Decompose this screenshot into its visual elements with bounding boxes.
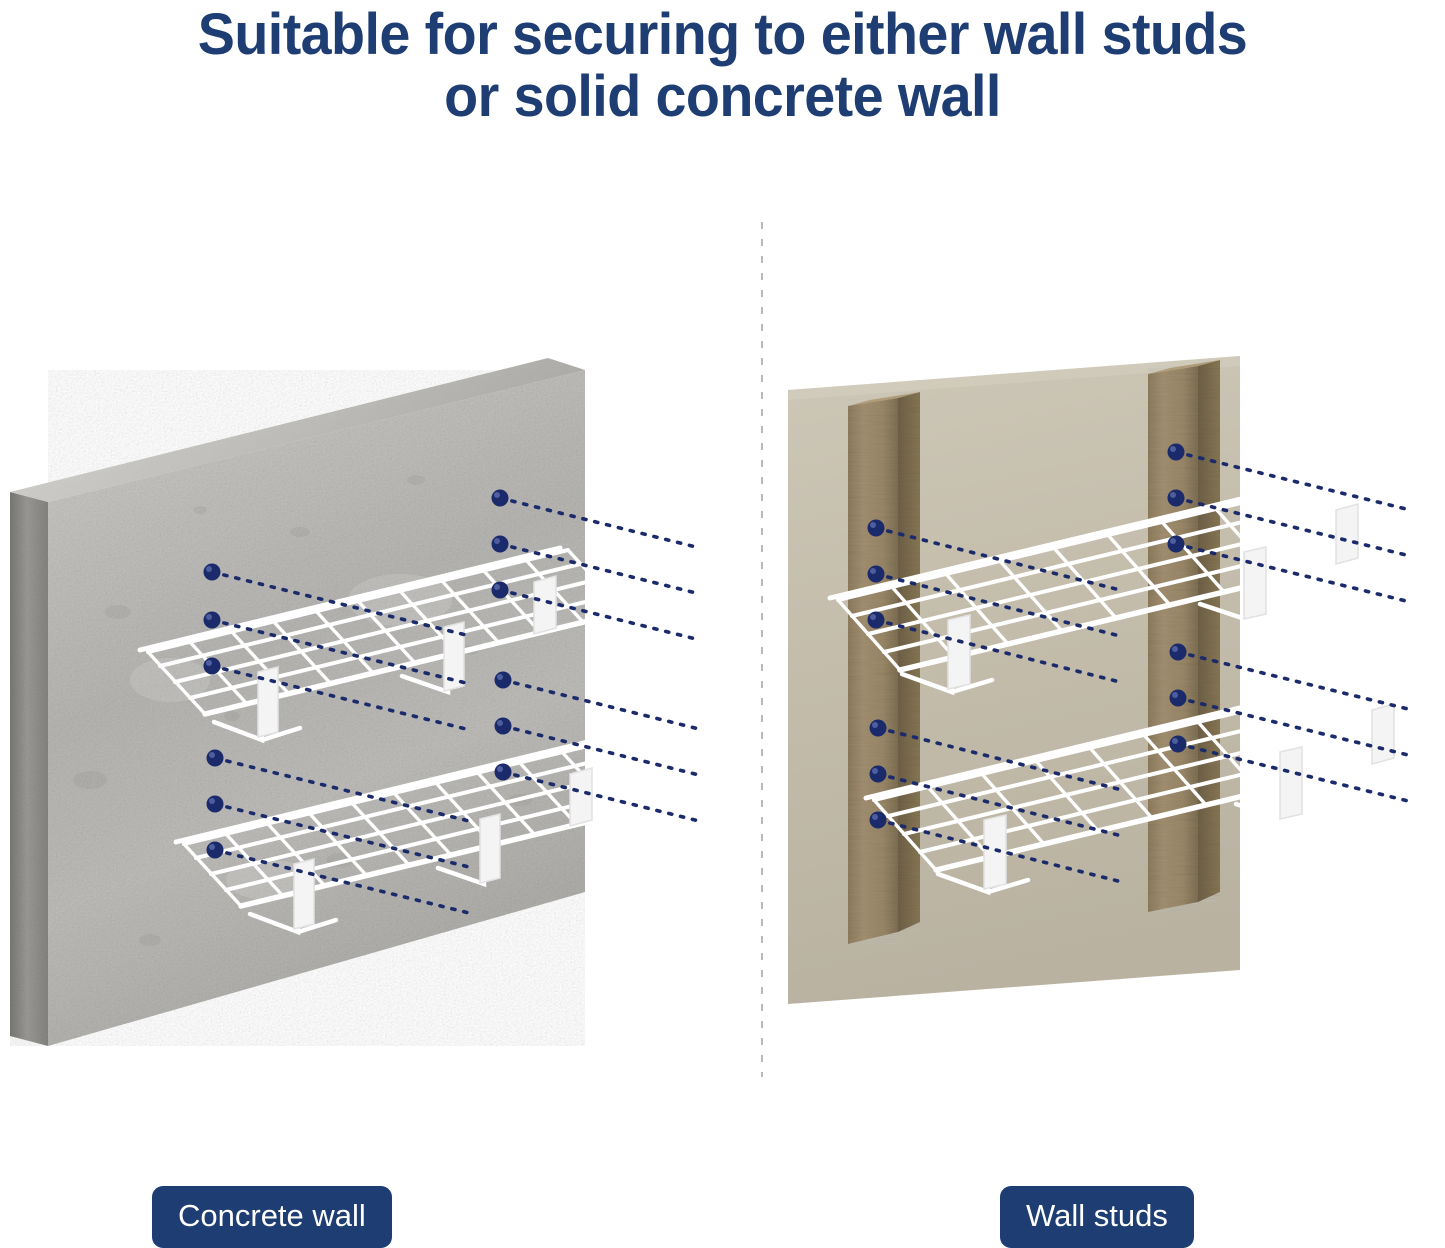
page-title: Suitable for securing to either wall stu… — [0, 4, 1445, 128]
badge-concrete-wall: Concrete wall — [152, 1186, 392, 1248]
concrete-slab — [10, 358, 585, 1046]
wall-studs-illustration — [770, 180, 1445, 1120]
page-title-line-2: or solid concrete wall — [29, 66, 1416, 128]
wall-stud-right — [1148, 360, 1220, 912]
panel-divider — [761, 222, 763, 1077]
page-title-line-1: Suitable for securing to either wall stu… — [29, 4, 1416, 66]
badge-wall-studs: Wall studs — [1000, 1186, 1194, 1248]
concrete-wall-illustration — [0, 180, 740, 1120]
